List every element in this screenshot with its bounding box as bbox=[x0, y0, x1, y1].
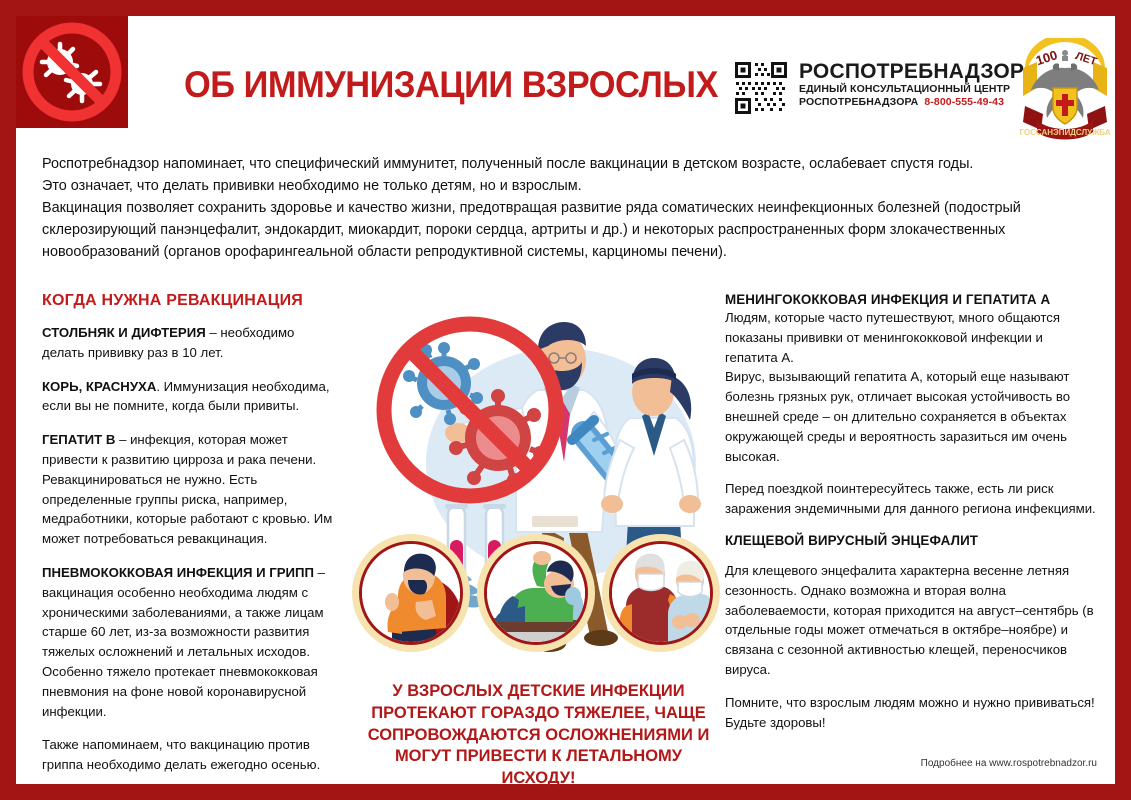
section-meningococcal-p1: Людям, которые часто путешествуют, много… bbox=[725, 308, 1097, 367]
section-hepatitis-b: ГЕПАТИТ В – инфекция, которая может прив… bbox=[42, 430, 338, 549]
blocked-virus-icon bbox=[16, 16, 128, 128]
org-subtitle-2-label: РОСПОТРЕБНАДЗОРА bbox=[799, 96, 918, 109]
section-tick-encephalitis-heading: КЛЕЩЕВОЙ ВИРУСНЫЙ ЭНЦЕФАЛИТ bbox=[725, 533, 1097, 548]
section-tetanus-diphtheria: СТОЛБНЯК И ДИФТЕРИЯ – необходимо делать … bbox=[42, 323, 338, 363]
left-column: КОГДА НУЖНА РЕВАКЦИНАЦИЯ СТОЛБНЯК И ДИФТ… bbox=[42, 292, 338, 789]
org-subtitle: ЕДИНЫЙ КОНСУЛЬТАЦИОННЫЙ ЦЕНТР bbox=[799, 83, 1024, 96]
emblem-ribbon-text: ГОССАНЭПИДСЛУЖБА bbox=[1019, 128, 1110, 137]
left-column-closing: Также напоминаем, что вакцинацию против … bbox=[42, 735, 338, 775]
circle-1 bbox=[352, 534, 470, 652]
circle-3-inner bbox=[609, 541, 713, 645]
poster-header: ОБ ИММУНИЗАЦИИ ВЗРОСЛЫХ bbox=[16, 16, 1115, 138]
section-meningococcal-p3: Перед поездкой поинтересуйтесь также, ес… bbox=[725, 479, 1097, 519]
circle-2-inner bbox=[484, 541, 588, 645]
circle-2 bbox=[477, 534, 595, 652]
section-measles-rubella-title: КОРЬ, КРАСНУХА bbox=[42, 379, 156, 394]
circle-3 bbox=[602, 534, 720, 652]
section-pneumococcal-influenza: ПНЕВМОКОККОВАЯ ИНФЕКЦИЯ И ГРИПП – вакцин… bbox=[42, 563, 338, 721]
warning-line-1: У ВЗРОСЛЫХ ДЕТСКИЕ ИНФЕКЦИИ bbox=[366, 681, 711, 703]
footer-url: Подробнее на www.rospotrebnadzor.ru bbox=[725, 758, 1097, 769]
section-tick-encephalitis-p1: Для клещевого энцефалита характерна весе… bbox=[725, 561, 1097, 680]
warning-line-2: ПРОТЕКАЮТ ГОРАЗДО ТЯЖЕЛЕЕ, ЧАЩЕ bbox=[366, 703, 711, 725]
qr-code-icon bbox=[733, 60, 789, 116]
section-measles-rubella: КОРЬ, КРАСНУХА. Иммунизация необходима, … bbox=[42, 377, 338, 417]
section-hepatitis-b-title: ГЕПАТИТ В bbox=[42, 432, 115, 447]
warning-line-4: МОГУТ ПРИВЕСТИ К ЛЕТАЛЬНОМУ ИСХОДУ! bbox=[366, 746, 711, 790]
org-subtitle-2: РОСПОТРЕБНАДЗОРА 8-800-555-49-43 bbox=[799, 96, 1024, 109]
elderly-couple-masks-icon bbox=[612, 544, 713, 645]
left-column-heading: КОГДА НУЖНА РЕВАКЦИНАЦИЯ bbox=[42, 292, 338, 310]
right-column: МЕНИНГОКОККОВАЯ ИНФЕКЦИЯ И ГЕПАТИТА А Лю… bbox=[725, 292, 1097, 732]
section-pneumococcal-influenza-title: ПНЕВМОКОККОВАЯ ИНФЕКЦИЯ И ГРИПП bbox=[42, 565, 314, 580]
org-name: РОСПОТРЕБНАДЗОР bbox=[799, 61, 1024, 83]
circle-1-inner bbox=[359, 541, 463, 645]
page-title: ОБ ИММУНИЗАЦИИ ВЗРОСЛЫХ bbox=[184, 64, 668, 106]
rospotrebnadzor-block: РОСПОТРЕБНАДЗОР ЕДИНЫЙ КОНСУЛЬТАЦИОННЫЙ … bbox=[733, 60, 1024, 116]
symptom-circles bbox=[352, 534, 720, 658]
section-hepatitis-b-text: – инфекция, которая может привести к раз… bbox=[42, 432, 332, 546]
intro-line-3: Вакцинация позволяет сохранить здоровье … bbox=[42, 198, 1097, 264]
hotline-phone: 8-800-555-49-43 bbox=[924, 96, 1004, 109]
poster-page: ОБ ИММУНИЗАЦИИ ВЗРОСЛЫХ bbox=[16, 16, 1115, 784]
warning-text: У ВЗРОСЛЫХ ДЕТСКИЕ ИНФЕКЦИИ ПРОТЕКАЮТ ГО… bbox=[366, 681, 711, 790]
section-tick-encephalitis-p2: Помните, что взрослым людям можно и нужн… bbox=[725, 693, 1097, 733]
poster-root: ОБ ИММУНИЗАЦИИ ВЗРОСЛЫХ bbox=[0, 0, 1131, 800]
intro-line-2: Это означает, что делать прививки необхо… bbox=[42, 176, 1097, 198]
intro-line-1: Роспотребнадзор напоминает, что специфич… bbox=[42, 154, 1097, 176]
intro-paragraph: Роспотребнадзор напоминает, что специфич… bbox=[42, 154, 1097, 263]
section-pneumococcal-influenza-text: – вакцинация особенно необходима людям с… bbox=[42, 565, 325, 719]
warning-line-3: СОПРОВОЖДАЮТСЯ ОСЛОЖНЕНИЯМИ И bbox=[366, 725, 711, 747]
rospotrebnadzor-text: РОСПОТРЕБНАДЗОР ЕДИНЫЙ КОНСУЛЬТАЦИОННЫЙ … bbox=[799, 60, 1024, 110]
section-meningococcal-p2: Вирус, вызывающий гепатита А, который ещ… bbox=[725, 367, 1097, 466]
man-lying-with-headache-icon bbox=[487, 544, 588, 645]
man-with-sore-throat-icon bbox=[362, 544, 463, 645]
rospotrebnadzor-emblem-icon: 100 ЛЕТ bbox=[1019, 38, 1111, 142]
section-tetanus-diphtheria-title: СТОЛБНЯК И ДИФТЕРИЯ bbox=[42, 325, 206, 340]
section-meningococcal-hepatitis-a-heading: МЕНИНГОКОККОВАЯ ИНФЕКЦИЯ И ГЕПАТИТА А bbox=[725, 292, 1097, 307]
